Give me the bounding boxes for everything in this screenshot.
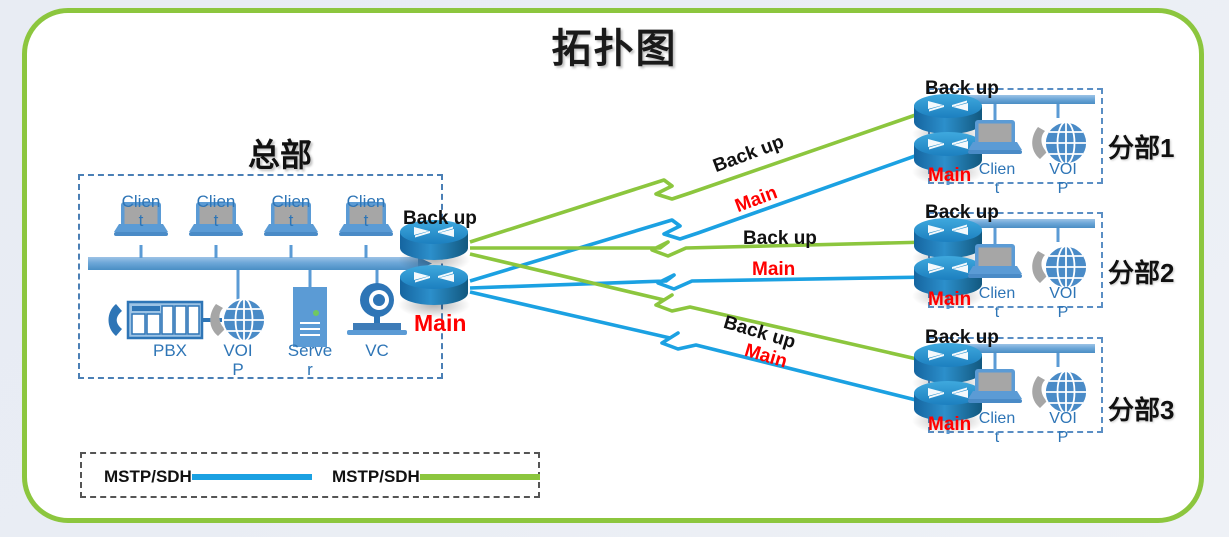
branch-1-router-main-label: Main [928,165,971,187]
hq-pbx-icon [109,302,203,338]
legend-label-2: MSTP/SDH [332,467,420,487]
hq-voip-icon [210,299,265,341]
hq-client-droplines [141,245,377,300]
link-main-branch-2-label: Main [752,259,795,281]
branch-3-name: 分部3 [1108,390,1174,427]
branch-2-client-icon [968,244,1022,278]
topology-diagram-canvas: 拓扑图 总部 [0,0,1229,537]
link-main-branch-2 [470,275,932,289]
branch-3-client-icon [968,369,1022,403]
legend-item-mstp-sdh-backup: MSTP/SDH [332,467,540,487]
legend-swatch-2 [420,474,540,480]
hq-router-backup-label: Back up [403,208,477,230]
hq-client-1 [114,202,168,236]
hq-backbone-bus [88,257,432,270]
hq-client-4 [339,202,393,236]
hq-client-3 [264,202,318,236]
branch-3-router-backup-label: Back up [925,327,999,349]
link-backup-branch-2-label: Back up [743,228,817,250]
branch-2-voip-icon [1032,246,1087,288]
hq-server-icon [293,287,327,347]
hq-vc-icon [347,283,407,335]
legend-box: MSTP/SDH MSTP/SDH [80,452,540,498]
branch-1-router-backup-label: Back up [925,78,999,100]
link-backup-branch-2 [470,242,930,256]
branch-1-voip-icon [1032,122,1087,164]
hq-router-main-label: Main [414,310,466,337]
legend-label-1: MSTP/SDH [104,467,192,487]
link-main-branch-1 [470,150,932,281]
branch-2-name: 分部2 [1108,253,1174,290]
branch-1-name: 分部1 [1108,128,1174,165]
branch-3-router-main-label: Main [928,414,971,436]
hq-client-2 [189,202,243,236]
legend-swatch-1 [192,474,312,480]
legend-item-mstp-sdh-main: MSTP/SDH [104,467,312,487]
branch-2-router-main-label: Main [928,289,971,311]
branch-1-client-icon [968,120,1022,154]
branch-2-router-backup-label: Back up [925,202,999,224]
branch-3-voip-icon [1032,371,1087,413]
